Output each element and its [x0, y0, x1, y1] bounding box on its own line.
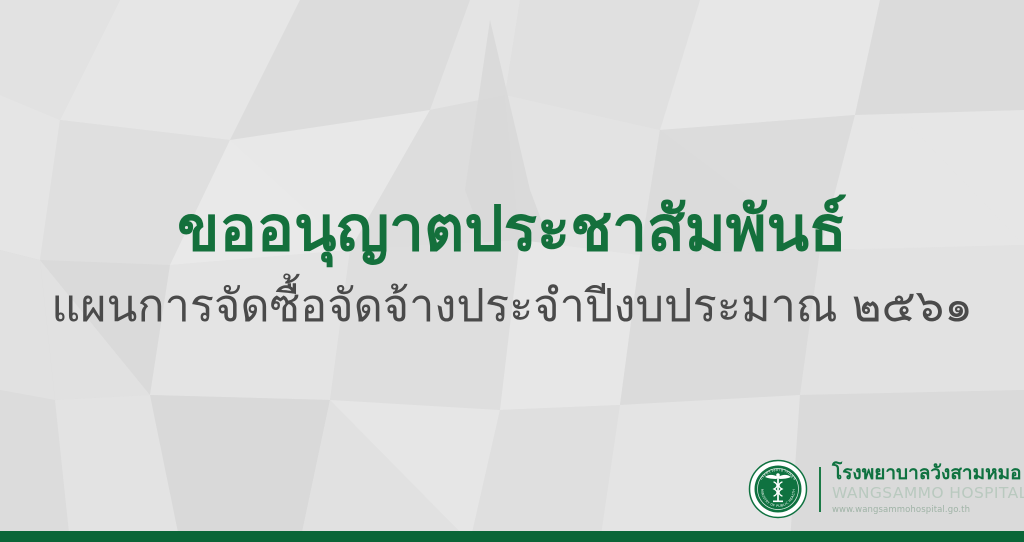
ministry-of-public-health-seal-icon: กระทรวงสาธารณสุข MINISTRY OF PUBLIC HEAL… [748, 459, 808, 519]
banner-text-stack: ขออนุญาตประชาสัมพันธ์ แผนการจัดซื้อจัดจ้… [0, 196, 1024, 331]
page-subtitle: แผนการจัดซื้อจัดจ้างประจำปีงบประมาณ ๒๕๖๑ [0, 281, 1024, 331]
page-title: ขออนุญาตประชาสัมพันธ์ [0, 196, 1024, 263]
hospital-website-url: www.wangsammohospital.go.th [832, 506, 1024, 515]
hospital-name-block: โรงพยาบาลวังสามหมอ WANGSAMMO HOSPITAL ww… [832, 464, 1024, 514]
hospital-logo-lockup: กระทรวงสาธารณสุข MINISTRY OF PUBLIC HEAL… [748, 459, 1024, 519]
hospital-name-english: WANGSAMMO HOSPITAL [832, 486, 1024, 502]
logo-divider [819, 467, 821, 512]
hospital-name-thai: โรงพยาบาลวังสามหมอ [832, 464, 1024, 483]
bottom-accent-bar [0, 531, 1024, 542]
announcement-banner: ขออนุญาตประชาสัมพันธ์ แผนการจัดซื้อจัดจ้… [0, 0, 1024, 542]
